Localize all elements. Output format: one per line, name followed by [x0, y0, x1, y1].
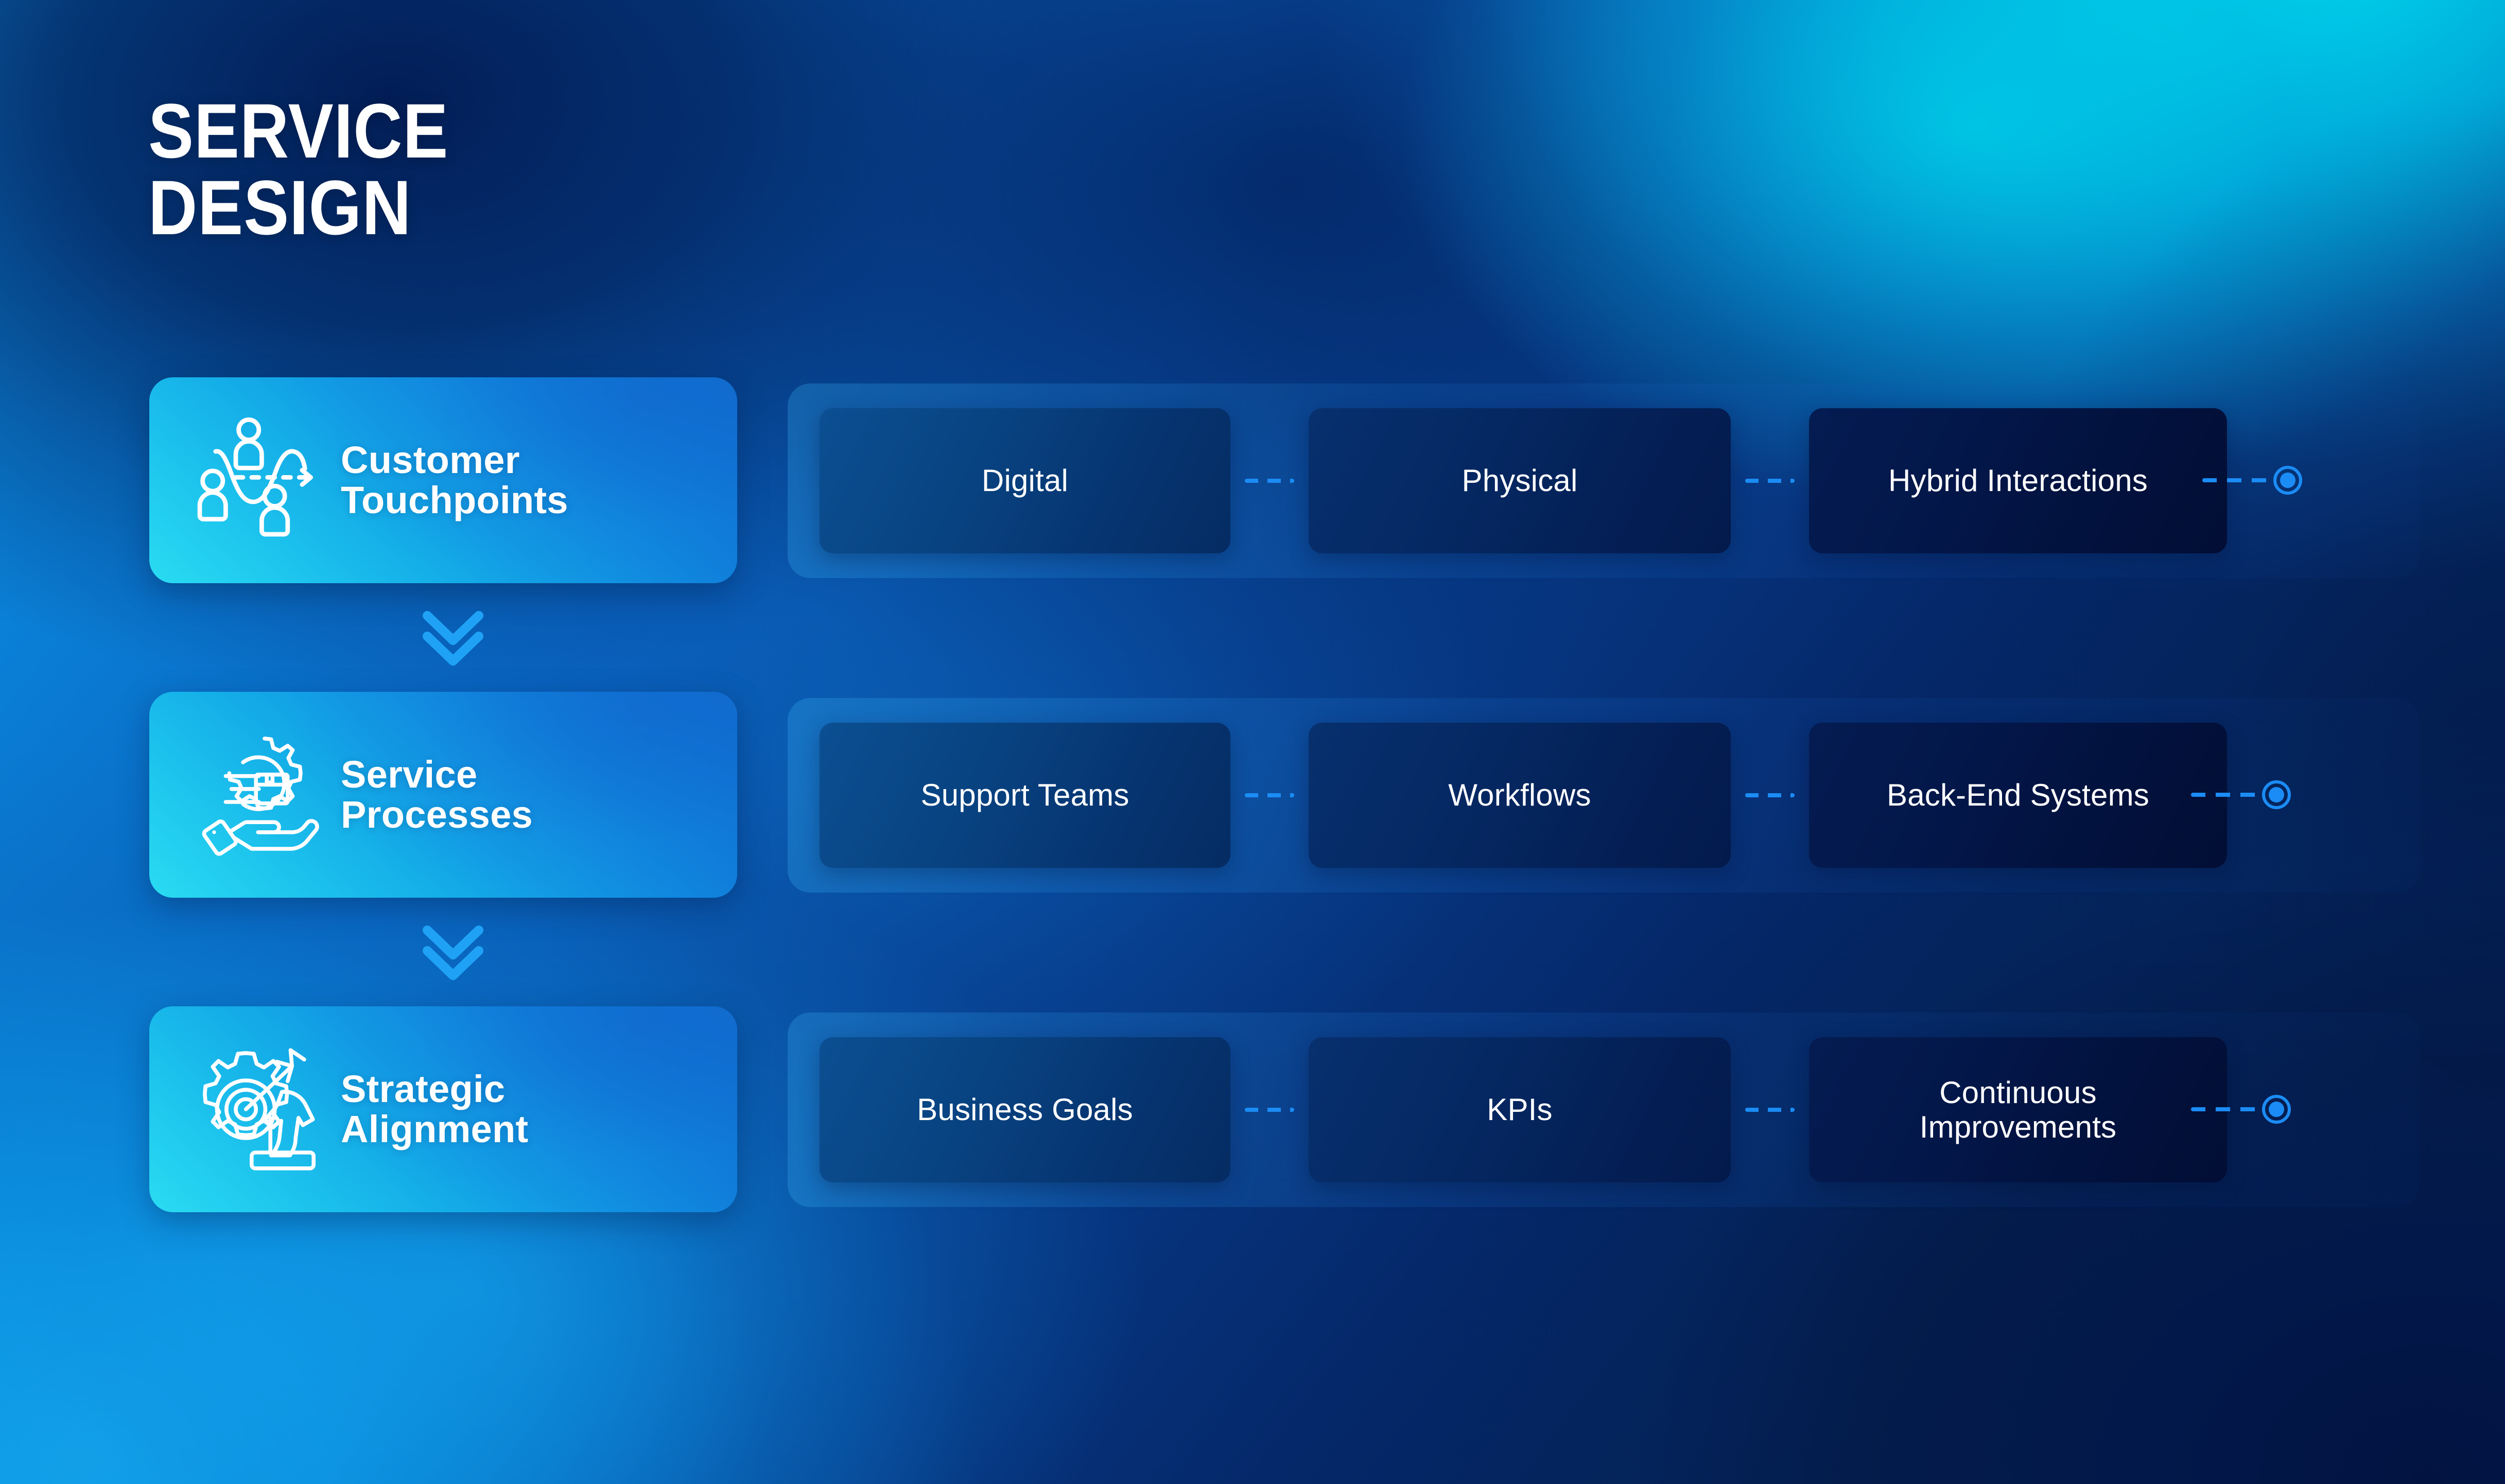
service-processes-icon [185, 723, 329, 867]
pill-item[interactable]: Workflows [1309, 723, 1731, 868]
pill-item[interactable]: Back-End Systems [1809, 723, 2227, 868]
pill-group-customer-touchpoints: Digital Physical Hybrid Interactions [788, 383, 2420, 578]
dashed-line-icon [2191, 1107, 2258, 1111]
label-card-strategic-alignment[interactable]: Strategic Alignment [149, 1006, 737, 1212]
dashed-line-icon [1245, 479, 1294, 483]
connector-gap [1731, 408, 1809, 553]
pill-group-service-processes: Support Teams Workflows Back-End Systems [788, 698, 2420, 893]
double-chevron-down-icon [396, 601, 510, 668]
label-card-title: Service Processes [341, 755, 533, 835]
dashed-line-icon [1745, 1108, 1795, 1112]
row-terminator [2191, 780, 2291, 809]
dashed-line-icon [2191, 793, 2258, 797]
dashed-line-icon [1245, 793, 1294, 797]
connector-gap [1230, 723, 1309, 868]
row-terminator [2202, 466, 2302, 495]
row-terminator [2191, 1095, 2291, 1124]
label-card-title: Strategic Alignment [341, 1069, 528, 1150]
customer-touchpoints-icon [185, 408, 329, 552]
connector-gap [1230, 408, 1309, 553]
row-strategic-alignment: Strategic Alignment Business Goals KPIs … [0, 1006, 2505, 1212]
pill-item[interactable]: Business Goals [820, 1037, 1230, 1182]
page-title: SERVICE DESIGN [148, 93, 448, 246]
pill-item[interactable]: KPIs [1309, 1037, 1731, 1182]
pill-item[interactable]: Support Teams [820, 723, 1230, 868]
connector-gap [1731, 723, 1809, 868]
circle-dot-icon [2273, 466, 2302, 495]
connector-gap [1230, 1037, 1309, 1182]
dashed-line-icon [1745, 479, 1795, 483]
row-service-processes: Service Processes Support Teams Workflow… [0, 692, 2505, 898]
row-customer-touchpoints: Customer Touchpoints Digital Physical Hy… [0, 377, 2505, 583]
label-card-customer-touchpoints[interactable]: Customer Touchpoints [149, 377, 737, 583]
pill-item[interactable]: Hybrid Interactions [1809, 408, 2227, 553]
circle-dot-icon [2262, 780, 2291, 809]
pill-item[interactable]: Digital [820, 408, 1230, 553]
double-chevron-down-icon [396, 916, 510, 983]
strategic-alignment-icon [185, 1037, 329, 1181]
label-card-service-processes[interactable]: Service Processes [149, 692, 737, 898]
pill-item[interactable]: Physical [1309, 408, 1731, 553]
label-card-title: Customer Touchpoints [341, 440, 568, 521]
dashed-line-icon [1745, 793, 1795, 797]
dashed-line-icon [2202, 478, 2269, 482]
connector-gap [1731, 1037, 1809, 1182]
circle-dot-icon [2262, 1095, 2291, 1124]
pill-group-strategic-alignment: Business Goals KPIs Continuous Improveme… [788, 1012, 2420, 1207]
dashed-line-icon [1245, 1108, 1294, 1112]
pill-item[interactable]: Continuous Improvements [1809, 1037, 2227, 1182]
